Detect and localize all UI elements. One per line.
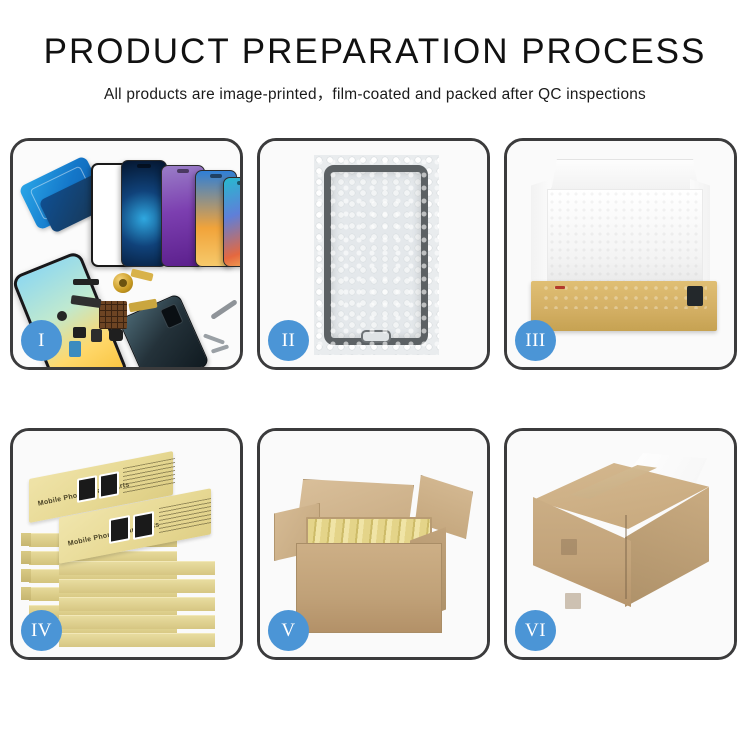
- box-edge-b4: [59, 597, 215, 611]
- step-panel-1: I: [10, 138, 243, 370]
- box-edge-b6: [59, 633, 215, 647]
- header: PRODUCT PREPARATION PROCESS All products…: [0, 0, 750, 104]
- step-panel-2: II: [257, 138, 490, 370]
- carton-handle-tab-top: [561, 539, 577, 555]
- step-badge-4: IV: [21, 610, 62, 651]
- chip-board-part: [99, 301, 127, 329]
- step-panel-6: VI: [504, 428, 737, 660]
- button-part: [57, 311, 67, 321]
- step-badge-3: III: [515, 320, 556, 361]
- step-badge-5: V: [268, 610, 309, 651]
- carton-front-panel: [296, 543, 442, 633]
- step-panel-5: V: [257, 428, 490, 660]
- tweezers-tool: [210, 299, 238, 320]
- box-side-2: [21, 551, 31, 564]
- carton-corner-seam: [625, 515, 627, 599]
- box-art-phone-2b: [133, 511, 154, 540]
- box-side-3: [21, 569, 31, 582]
- small-part-d: [69, 341, 81, 357]
- screwdriver-tool: [203, 333, 225, 344]
- small-part-c: [109, 329, 123, 341]
- small-part-a: [73, 327, 86, 338]
- box-art-phone-1a: [77, 475, 97, 503]
- box-side-1: [21, 533, 31, 546]
- flex-cable-2: [128, 299, 157, 313]
- white-foam-padding: [547, 189, 703, 286]
- carton-handle-tab-bottom: [565, 593, 581, 609]
- step-panel-3: III: [504, 138, 737, 370]
- screen-in-box: [541, 283, 707, 309]
- step-badge-1: I: [21, 320, 62, 361]
- label-mark: [555, 286, 565, 289]
- pry-tool: [211, 344, 229, 353]
- box-edge-b5: [59, 615, 215, 629]
- page-title: PRODUCT PREPARATION PROCESS: [0, 34, 750, 71]
- step-badge-2: II: [268, 320, 309, 361]
- box-art-phone-1b: [99, 471, 119, 499]
- box-lid: [551, 159, 699, 192]
- box-edge-b3: [59, 579, 215, 593]
- page-subtitle: All products are image-printed，film-coat…: [0, 82, 750, 104]
- process-steps-grid: I II III: [10, 138, 740, 660]
- small-part-b: [91, 329, 102, 342]
- product-preparation-infographic: PRODUCT PREPARATION PROCESS All products…: [0, 0, 750, 750]
- vibrator-part: [73, 279, 99, 285]
- box-edge-b2: [59, 561, 215, 575]
- box-art-phone-2a: [109, 515, 130, 544]
- step-panel-4: Mobile Phone Spare Parts Mobile Phone Sp…: [10, 428, 243, 660]
- flex-cable-1: [130, 268, 153, 281]
- box-side-4: [21, 587, 31, 600]
- bubble-wrap-overlay: [314, 155, 439, 355]
- flex-cable-3: [71, 295, 102, 308]
- step-badge-6: VI: [515, 610, 556, 651]
- speaker-part: [113, 273, 133, 293]
